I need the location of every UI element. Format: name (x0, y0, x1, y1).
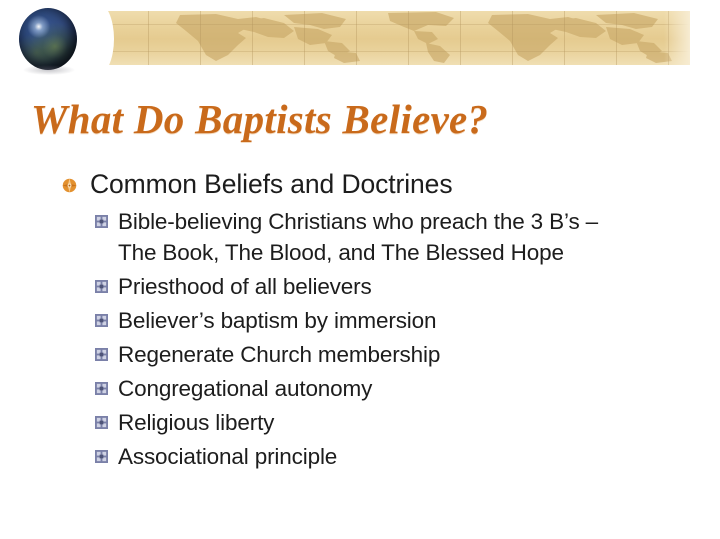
checkered-square-bullet-icon (95, 215, 108, 228)
list-item-line-2: The Book, The Blood, and The Blessed Hop… (118, 240, 564, 265)
globe-sphere (19, 8, 77, 70)
list-item-label: Believer’s baptism by immersion (118, 305, 680, 336)
checkered-square-bullet-icon (95, 348, 108, 361)
list-item: Congregational autonomy (0, 373, 720, 404)
banner-right-fade (664, 11, 690, 65)
list-item: Religious liberty (0, 407, 720, 438)
list-item-label: Priesthood of all believers (118, 271, 680, 302)
page-title: What Do Baptists Believe? (31, 96, 488, 142)
checkered-square-bullet-icon (95, 314, 108, 327)
list-item-level1: Common Beliefs and Doctrines (0, 168, 720, 202)
list-item: Regenerate Church membership (0, 339, 720, 370)
list-item: Believer’s baptism by immersion (0, 305, 720, 336)
list-item: Priesthood of all believers (0, 271, 720, 302)
checkered-square-bullet-icon (95, 382, 108, 395)
list-item-label: Regenerate Church membership (118, 339, 680, 370)
checkered-square-bullet-icon (95, 450, 108, 463)
globe-icon (19, 8, 81, 72)
list-item-label: Congregational autonomy (118, 373, 680, 404)
banner-globe-notch (80, 2, 114, 76)
checkered-square-bullet-icon (95, 416, 108, 429)
list-item-line-1: Bible-believing Christians who preach th… (118, 209, 598, 234)
compass-rose-bullet-icon (62, 178, 77, 193)
slide: What Do Baptists Believe? Common Beliefs… (0, 0, 720, 539)
world-map-banner (88, 11, 690, 65)
list-level2: Bible-believing Christians who preach th… (0, 206, 720, 472)
list-item-label: Associational principle (118, 441, 680, 472)
globe-shadow (23, 65, 75, 75)
list-item: Associational principle (0, 441, 720, 472)
checkered-square-bullet-icon (95, 280, 108, 293)
banner-gridlines (88, 11, 690, 65)
list-item-level1-label: Common Beliefs and Doctrines (90, 168, 720, 201)
slide-body: Common Beliefs and Doctrines Bible-belie… (0, 168, 720, 475)
list-item-label: Religious liberty (118, 407, 680, 438)
list-item: Bible-believing Christians who preach th… (0, 206, 720, 268)
list-item-label: Bible-believing Christians who preach th… (118, 206, 680, 268)
